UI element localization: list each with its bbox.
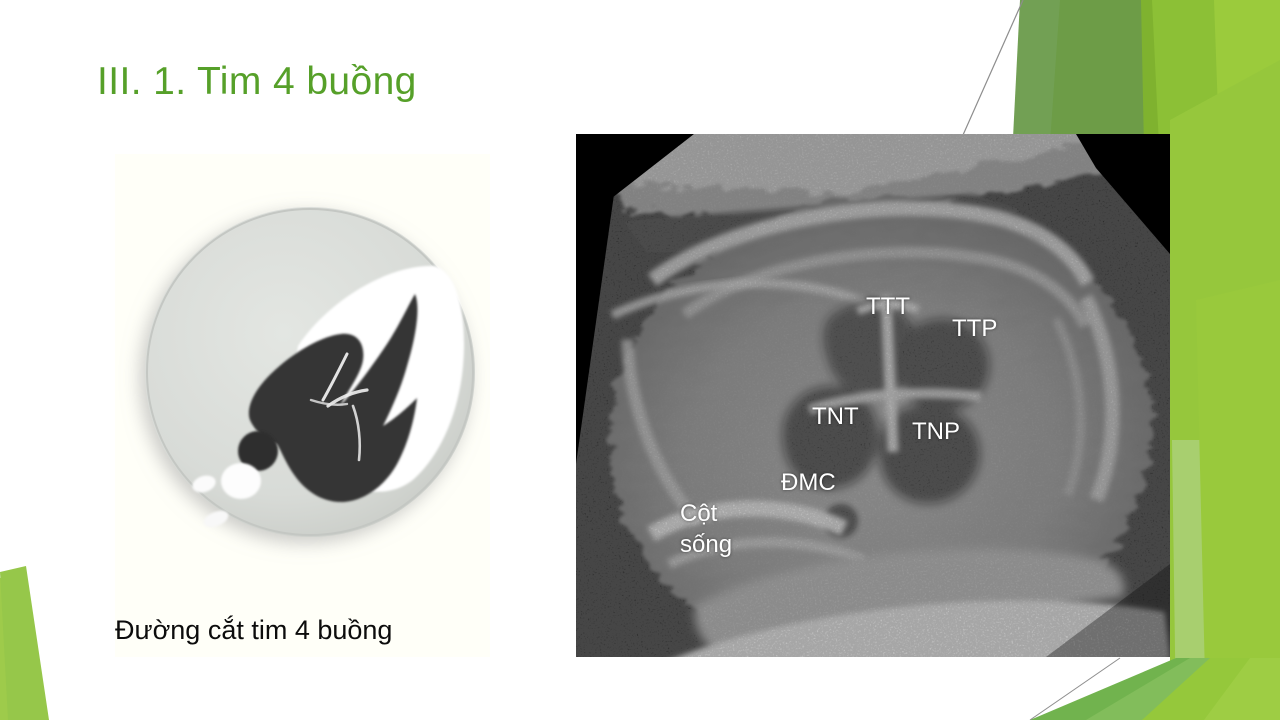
deco-hairline-top (963, 0, 1023, 135)
diagram-panel: Đường cắt tim 4 buồng (115, 154, 490, 657)
label-song: sống (680, 531, 732, 558)
deco-shape-top-lime-bright (1214, 0, 1280, 520)
deco-shape-bottom-limebright (1204, 658, 1280, 720)
label-tnp: TNP (912, 418, 960, 445)
deco-shape-top-lime (1152, 0, 1280, 560)
deco-shape-bottomleft-2 (0, 566, 49, 720)
deco-hairline-bottom (1030, 658, 1120, 720)
fetal-echocardiogram-image (576, 134, 1170, 657)
label-ttt: TTT (866, 293, 910, 320)
deco-shape-right-band (1170, 60, 1280, 700)
label-ttp: TTP (952, 315, 997, 342)
deco-shape-bottom-grass (1030, 658, 1280, 720)
deco-shape-bottom-grass-light (1086, 658, 1280, 720)
ultrasound-panel: TTT TTP TNT TNP ĐMC Cột sống (576, 134, 1170, 657)
deco-shape-bottomleft (0, 572, 46, 720)
diagram-caption: Đường cắt tim 4 buồng (84, 613, 524, 647)
deco-shape-bottom-lime (1142, 658, 1280, 720)
deco-shape-right-pale (1172, 440, 1240, 720)
label-dmc: ĐMC (781, 469, 836, 496)
slide-canvas: III. 1. Tim 4 buồng (0, 0, 1280, 720)
four-chamber-view-diagram (115, 154, 490, 594)
spine-marker-large (221, 463, 261, 499)
deco-shape-right-lime2 (1196, 280, 1280, 720)
label-tnt: TNT (812, 403, 859, 430)
label-cot: Cột (680, 500, 717, 527)
page-title: III. 1. Tim 4 buồng (97, 58, 417, 106)
us-speckle-overlay-dark (576, 134, 1170, 657)
